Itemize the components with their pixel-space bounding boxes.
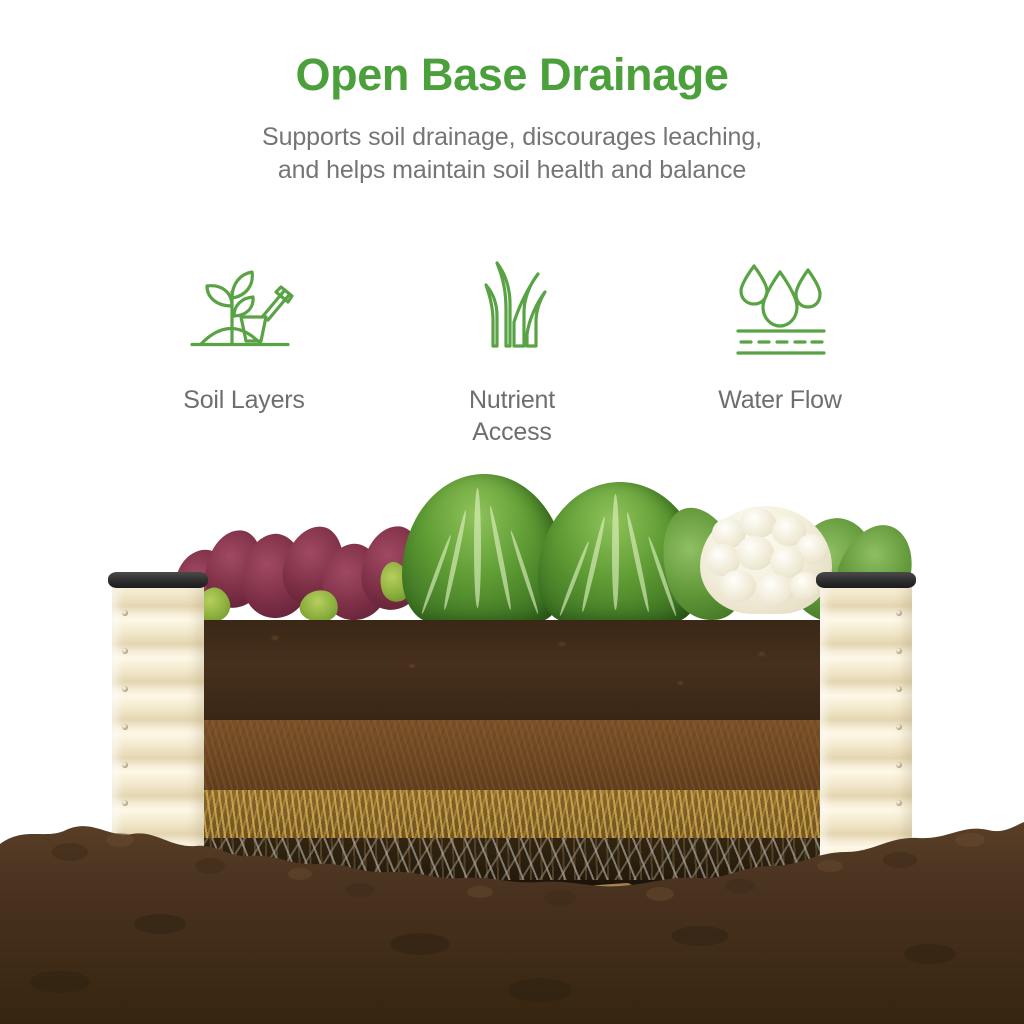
panel-cap-rim [108, 572, 208, 588]
panel-screw [122, 762, 128, 768]
soil-layer-compost-mulch [200, 720, 824, 790]
water-droplets-soil-icon [646, 252, 914, 368]
feature-label-line-2: Access [378, 416, 646, 448]
panel-cap-rim [816, 572, 916, 588]
soil-layer-topsoil [200, 620, 824, 720]
panel-screw [122, 724, 128, 730]
feature-nutrient-access: Nutrient Access [378, 252, 646, 448]
subtitle-line-2: and helps maintain soil health and balan… [0, 154, 1024, 187]
plant-shovel-icon [110, 252, 378, 368]
feature-label: Nutrient Access [378, 384, 646, 448]
feature-soil-layers: Soil Layers [110, 252, 378, 416]
panel-screw [896, 648, 902, 654]
panel-screw [896, 762, 902, 768]
panel-screw [122, 610, 128, 616]
panel-screw [896, 686, 902, 692]
feature-label: Soil Layers [110, 384, 378, 416]
grass-blades-icon [378, 252, 646, 368]
feature-icon-row: Soil Layers Nutrient Access [0, 252, 1024, 448]
feature-label-line-1: Nutrient [378, 384, 646, 416]
feature-label: Water Flow [646, 384, 914, 416]
product-scene [0, 460, 1024, 1024]
feature-water-flow: Water Flow [646, 252, 914, 416]
page-subtitle: Supports soil drainage, discourages leac… [0, 97, 1024, 187]
panel-screw [896, 610, 902, 616]
header: Open Base Drainage Supports soil drainag… [0, 0, 1024, 187]
product-feature-image: Open Base Drainage Supports soil drainag… [0, 0, 1024, 1024]
page-title: Open Base Drainage [0, 0, 1024, 97]
subtitle-line-1: Supports soil drainage, discourages leac… [0, 121, 1024, 154]
panel-screw [896, 724, 902, 730]
panel-screw [122, 648, 128, 654]
panel-screw [122, 686, 128, 692]
garden-ground-soil [0, 804, 1024, 1024]
